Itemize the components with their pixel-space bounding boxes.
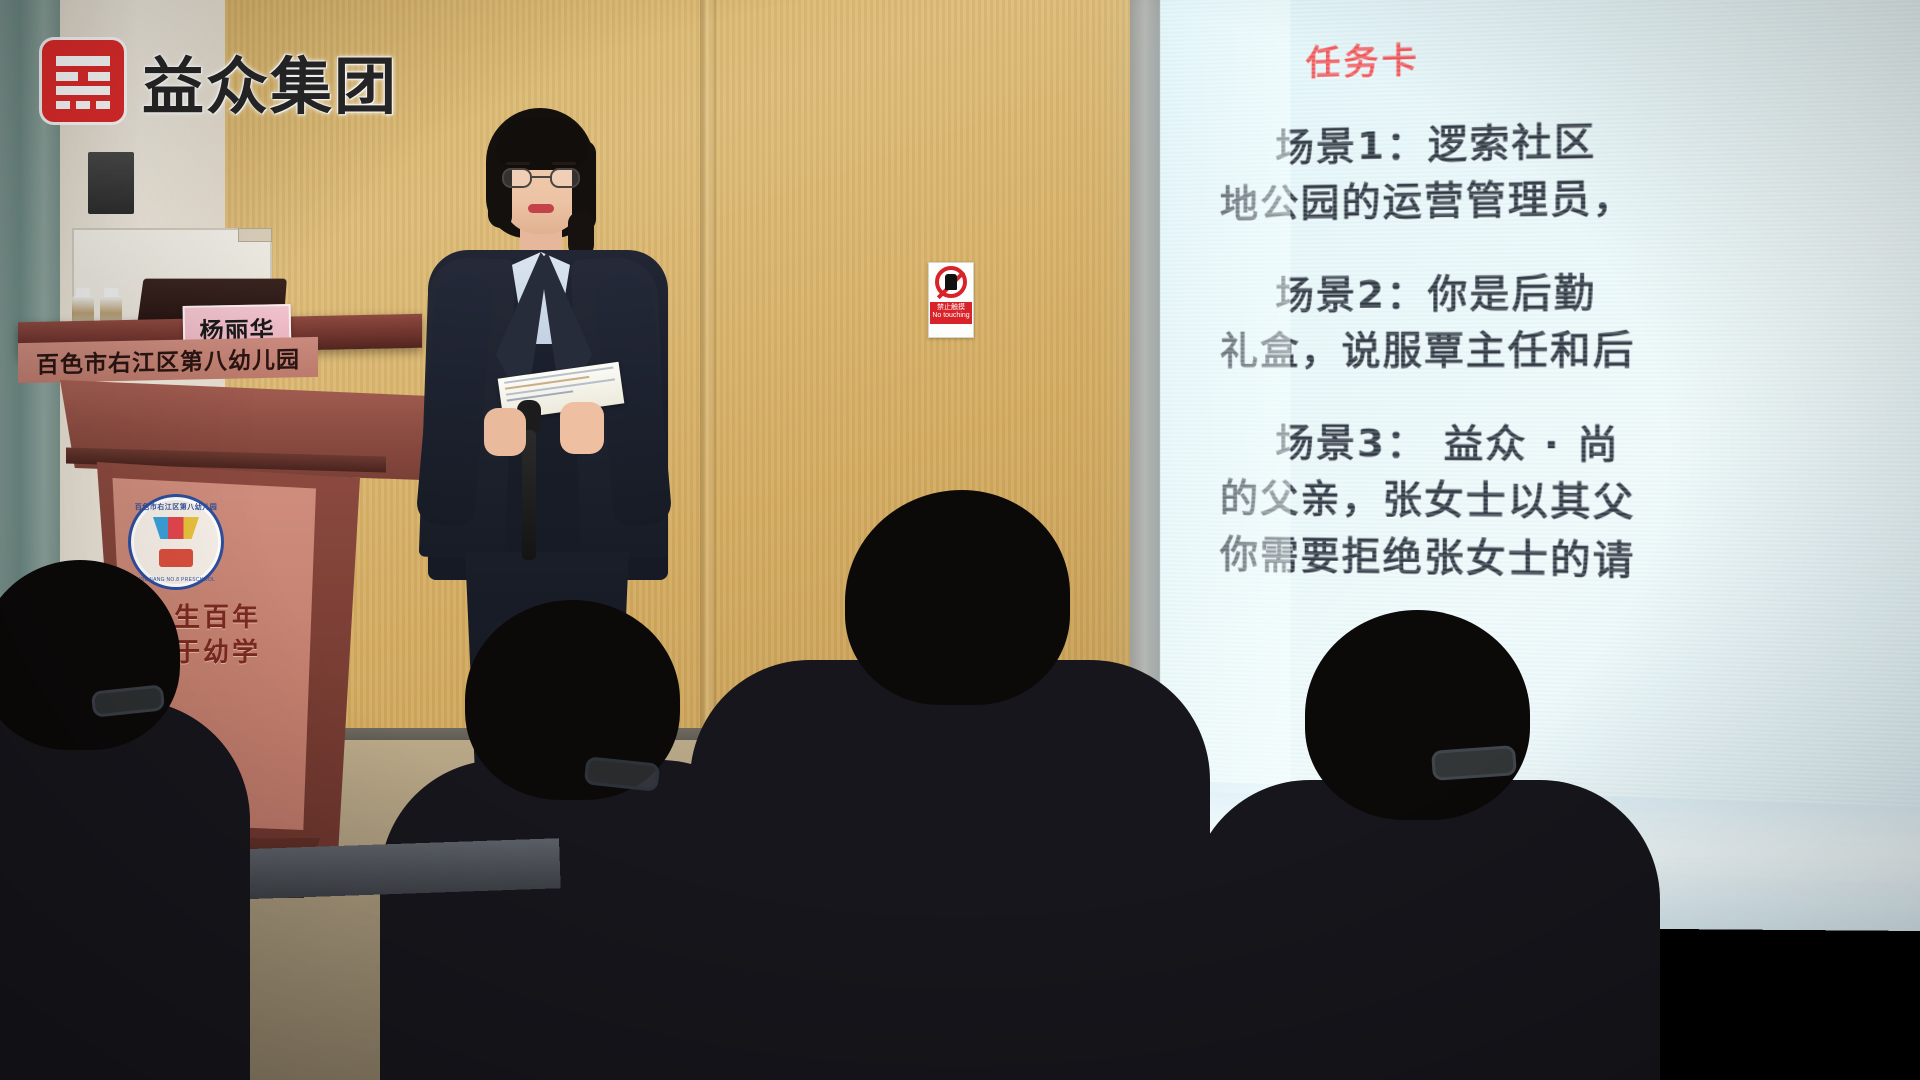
audience-member-right-body <box>1190 780 1660 1080</box>
glasses-lens-left <box>502 168 532 188</box>
emblem-roof-icon <box>153 517 199 539</box>
wall-column <box>1130 0 1164 760</box>
slide-content: 任务卡 场景1：逻索社区 地公园的运营管理员， 场景2：你是后勤 礼盒，说服覃主… <box>1220 14 1920 596</box>
wall-speaker <box>88 152 134 214</box>
presenter-glasses <box>500 168 584 188</box>
presenter-eyebrow-right <box>552 162 576 165</box>
no-touching-sign: 禁止触摸 No touching <box>928 262 974 338</box>
presenter-bangs <box>496 118 588 168</box>
audience-member-center-left-body <box>380 760 780 1080</box>
podium-front-text: 百色市右江区第八幼儿园 <box>18 337 318 383</box>
slide-line-4: 礼盒，说服覃主任和后 <box>1220 320 1920 379</box>
presenter-eyebrow-left <box>506 162 530 165</box>
brand-name: 益众集团 <box>142 36 398 126</box>
slide-line-6: 的父亲，张女士以其父 <box>1220 471 1920 537</box>
audience-member-front-left-body <box>0 700 250 1080</box>
sign-label-en: No touching <box>930 312 972 320</box>
presenter-hand-right <box>560 402 604 454</box>
brand-watermark: 益众集团 <box>42 36 398 126</box>
audience-right-glasses <box>1431 745 1517 781</box>
projection-screen: 任务卡 场景1：逻索社区 地公园的运营管理员， 场景2：你是后勤 礼盒，说服覃主… <box>1160 0 1920 810</box>
glasses-bridge <box>532 176 552 178</box>
presenter-mouth <box>528 204 554 213</box>
sign-label: 禁止触摸 No touching <box>930 302 972 324</box>
yizhong-square-logo-icon <box>42 40 124 122</box>
hand-icon <box>945 274 957 290</box>
slide-spacer-2 <box>1220 379 1920 418</box>
emblem-top-text: 百色市右江区第八幼儿园 <box>131 502 221 512</box>
slide-line-5: 场景3： 益众 · 尚 <box>1275 416 1920 478</box>
emblem-graphic <box>149 515 203 569</box>
emblem-base-icon <box>159 549 193 567</box>
slide-title: 任务卡 <box>1306 14 1920 85</box>
wall-socket <box>238 228 272 242</box>
glasses-lens-right <box>550 168 580 188</box>
presentation-scene-photo: 奋斗 担当 正直 自律 任务卡 场景1：逻索社区 地公园的运营管理员， 场景2：… <box>0 0 1920 1080</box>
audience-member-center-head <box>845 490 1070 705</box>
sign-label-cn: 禁止触摸 <box>930 304 972 312</box>
slide-line-3: 场景2：你是后勤 <box>1275 261 1920 324</box>
slide-line-1: 场景1：逻索社区 <box>1275 103 1920 176</box>
school-emblem: 百色市右江区第八幼儿园 YOUJIANG NO.8 PRESCHOOL <box>128 494 224 590</box>
microphone-body <box>522 430 536 560</box>
slide-line-7: 你需要拒绝张女士的请 <box>1220 526 1920 596</box>
no-touching-icon <box>935 266 967 298</box>
audience-member-right-head <box>1305 610 1530 820</box>
presenter-hand-left <box>484 408 526 456</box>
